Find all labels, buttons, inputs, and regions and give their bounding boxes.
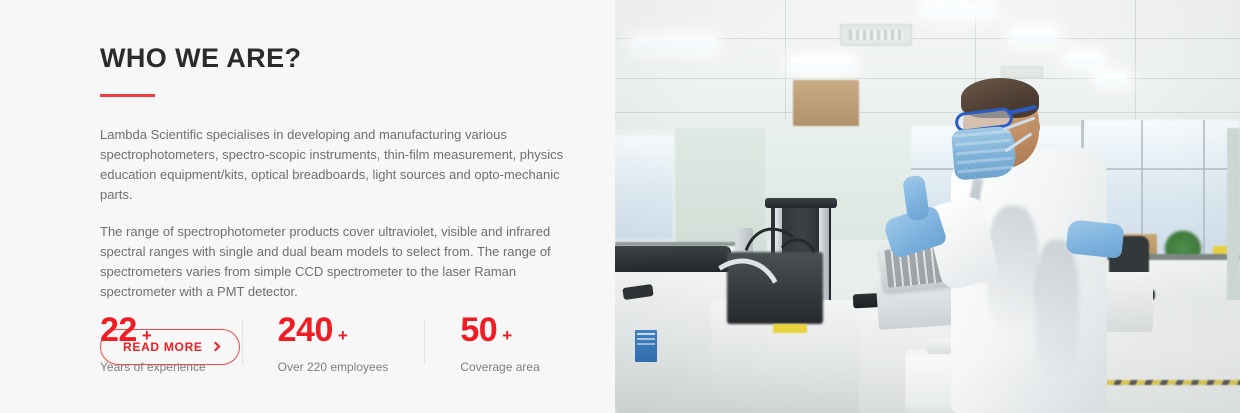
stat-suffix: +	[502, 327, 512, 344]
heading-accent-rule	[100, 94, 155, 97]
stat-item: 50 + Coverage area	[424, 313, 575, 374]
stats-row: 22 + Years of experience 240 + Over 220 …	[100, 313, 576, 374]
paragraph-1: Lambda Scientific specialises in develop…	[100, 125, 580, 205]
window	[615, 136, 673, 240]
stat-number: 22	[100, 313, 137, 347]
window-mullion	[1203, 120, 1205, 258]
ceiling-light	[791, 58, 853, 70]
coat-fold	[1035, 240, 1079, 380]
monitor-top	[765, 198, 837, 208]
instrument-label	[635, 330, 657, 362]
ceiling-grid-line	[785, 0, 786, 130]
page-title: WHO WE ARE?	[100, 44, 580, 74]
gloved-hand	[1065, 219, 1124, 259]
stat-number: 240	[278, 313, 333, 347]
stat-value: 22 +	[100, 313, 206, 347]
stat-suffix: +	[142, 327, 152, 344]
stat-label: Years of experience	[100, 360, 206, 374]
paragraph-2: The range of spectrophotometer products …	[100, 222, 580, 302]
stat-label: Coverage area	[460, 360, 539, 374]
ceiling-light	[1013, 29, 1055, 42]
bottle-cap	[927, 338, 953, 354]
ceiling-vent	[840, 24, 912, 46]
stat-value: 50 +	[460, 313, 539, 347]
content-panel: WHO WE ARE? Lambda Scientific specialise…	[0, 0, 615, 413]
who-we-are-section: WHO WE ARE? Lambda Scientific specialise…	[0, 0, 1240, 413]
ceiling-grid-line	[1135, 0, 1136, 125]
ceiling-light	[1097, 74, 1127, 83]
stat-value: 240 +	[278, 313, 389, 347]
ceiling-vent	[1001, 66, 1043, 78]
ceiling-grid-line	[615, 78, 1240, 79]
stat-number: 50	[460, 313, 497, 347]
ceiling-light	[633, 36, 715, 50]
stat-item: 22 + Years of experience	[100, 313, 242, 374]
stat-item: 240 + Over 220 employees	[242, 313, 425, 374]
stat-suffix: +	[338, 327, 348, 344]
wood-wall-panel	[793, 80, 859, 126]
lab-photo	[615, 0, 1240, 413]
stat-label: Over 220 employees	[278, 360, 389, 374]
face-mask	[951, 125, 1017, 180]
ceiling-light	[925, 3, 993, 15]
ceiling-light	[1067, 54, 1103, 65]
body-copy: Lambda Scientific specialises in develop…	[100, 125, 580, 302]
photo-stage	[615, 0, 1240, 413]
ceiling-grid-line	[615, 112, 1240, 113]
